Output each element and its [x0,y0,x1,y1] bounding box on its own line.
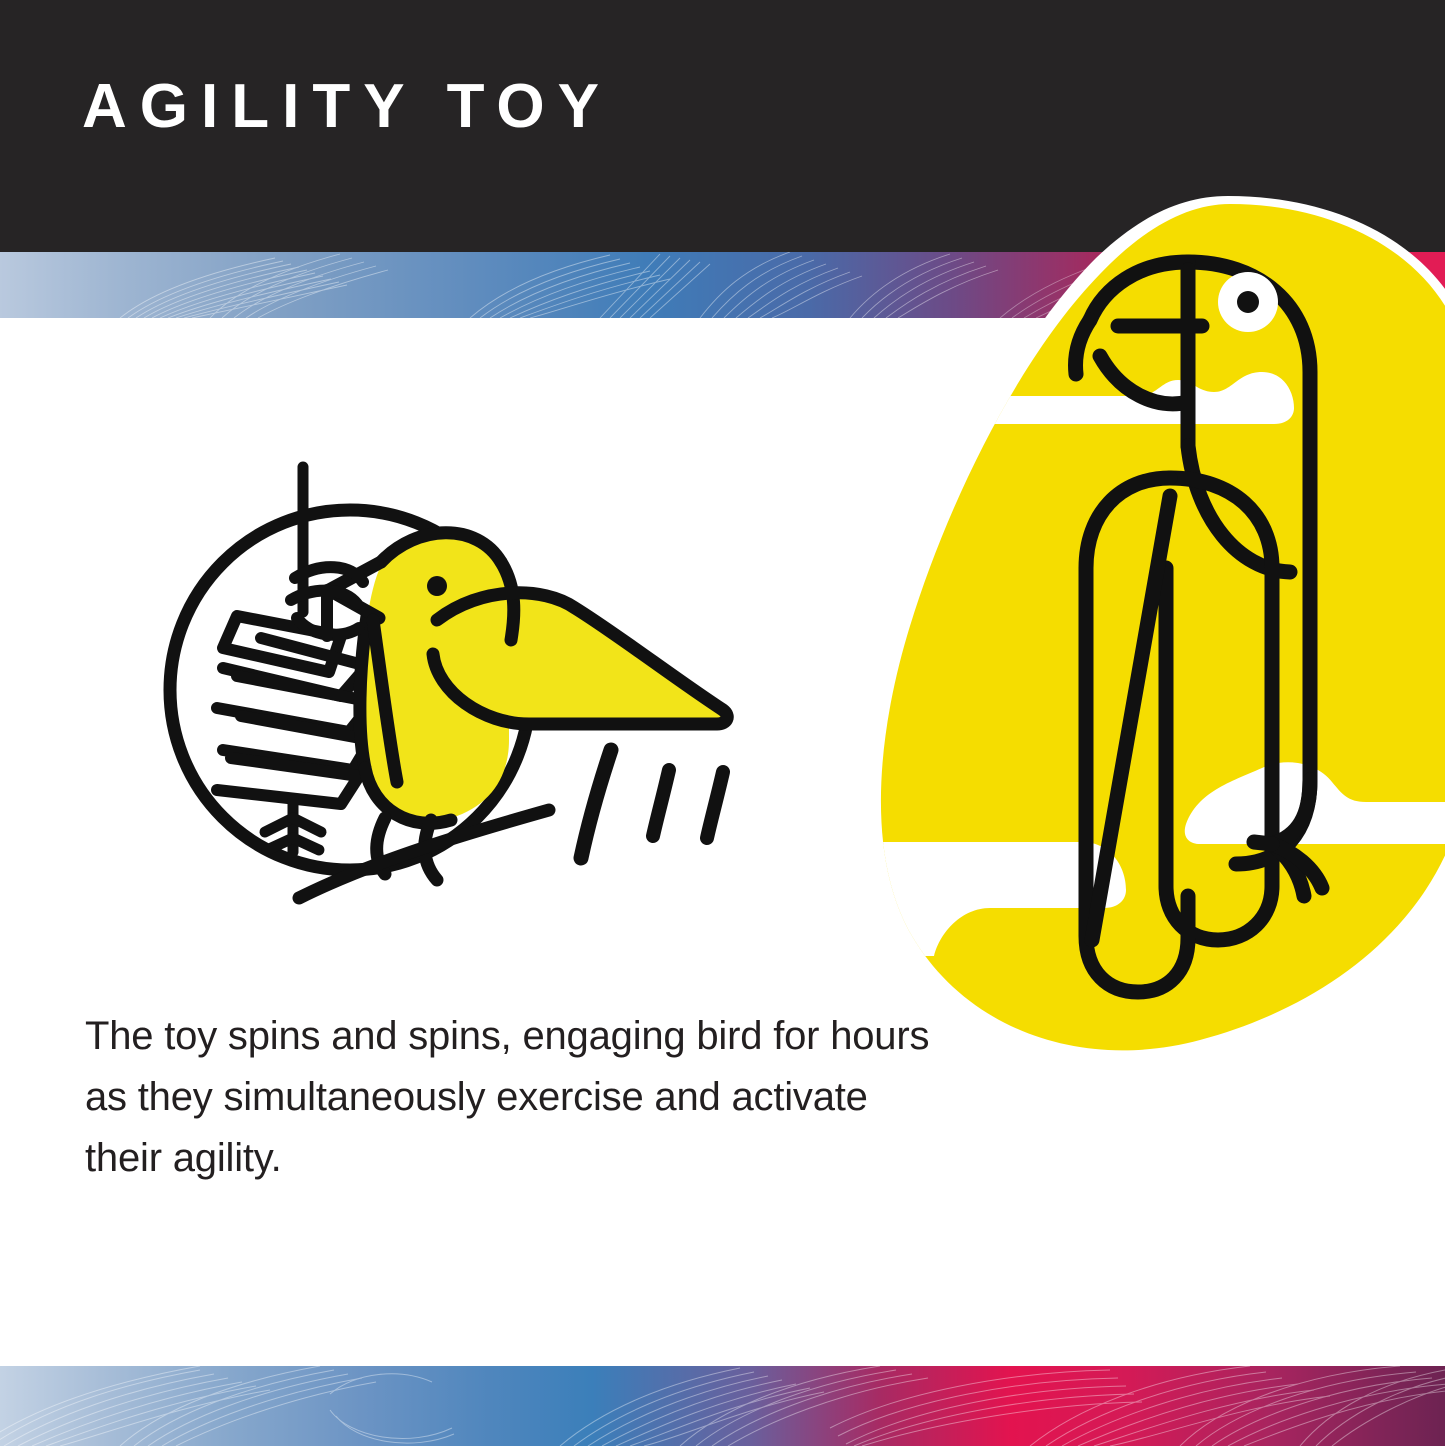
feather-pattern-top-icon [0,252,1445,318]
header-bar: AGILITY TOY [0,0,1445,252]
feather-band-top [0,252,1445,318]
bird-eye-icon [427,576,447,596]
bird-with-spinning-toy-icon [145,440,805,940]
product-feature-card: AGILITY TOY [0,0,1445,1446]
feather-pattern-bottom-icon [0,1366,1445,1446]
feather-band-bottom [0,1366,1445,1446]
page-title: AGILITY TOY [82,76,612,138]
description-paragraph: The toy spins and spins, engaging bird f… [85,1006,945,1188]
motion-lines-icon [581,750,723,858]
